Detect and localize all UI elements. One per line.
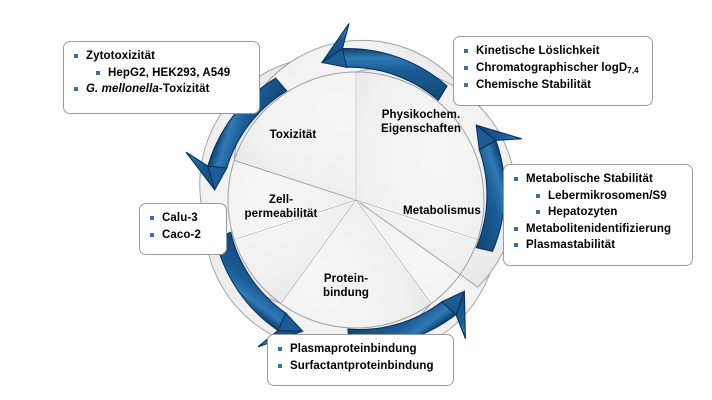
logd-subscript: 7,4 <box>627 66 638 75</box>
segment-label-zellpermeabilitaet: Zell- permeabilität <box>234 193 328 221</box>
list-item: Plasmastabilität <box>512 237 682 254</box>
list-item: Plasmaproteinbindung <box>276 341 443 358</box>
list-item: Chemische Stabilität <box>462 77 642 94</box>
diagram-canvas: Physikochem. Eigenschaften Metabolismus … <box>0 0 712 400</box>
list-item: Chromatographischer logD7,4 <box>462 60 642 78</box>
segment-label-proteinbindung: Protein- bindung <box>299 272 393 300</box>
list-item: G. mellonella-Toxizität <box>72 81 249 98</box>
list-item: HepG2, HEK293, A549 <box>72 65 249 82</box>
callout-metabolismus[interactable]: Metabolische Stabilität Lebermikrosomen/… <box>503 164 693 266</box>
callout-list-proteinbindung: Plasmaproteinbindung Surfactantproteinbi… <box>276 341 443 374</box>
list-item: Zytotoxizität <box>72 48 249 65</box>
list-item: Metabolitenidentifizierung <box>512 221 682 238</box>
segment-label-metabolismus: Metabolismus <box>388 204 496 218</box>
callout-physikochem[interactable]: Kinetische Löslichkeit Chromatographisch… <box>453 36 653 106</box>
callout-proteinbindung[interactable]: Plasmaproteinbindung Surfactantproteinbi… <box>267 334 454 386</box>
list-item: Caco-2 <box>148 227 216 244</box>
callout-list-physikochem: Kinetische Löslichkeit Chromatographisch… <box>462 43 642 94</box>
list-item: Kinetische Löslichkeit <box>462 43 642 60</box>
list-item: Hepatozyten <box>512 204 682 221</box>
list-item: Metabolische Stabilität <box>512 171 682 188</box>
callout-list-metabolismus: Metabolische Stabilität Lebermikrosomen/… <box>512 171 682 254</box>
callout-list-zellpermeabilitaet: Calu-3 Caco-2 <box>148 210 216 243</box>
segment-label-physikochem: Physikochem. Eigenschaften <box>362 108 480 136</box>
callout-zellpermeabilitaet[interactable]: Calu-3 Caco-2 <box>139 203 227 255</box>
callout-list-toxizitaet: Zytotoxizität HepG2, HEK293, A549 G. mel… <box>72 48 249 98</box>
list-item: Calu-3 <box>148 210 216 227</box>
segment-label-toxizitaet: Toxizität <box>246 128 340 142</box>
callout-toxizitaet[interactable]: Zytotoxizität HepG2, HEK293, A549 G. mel… <box>63 41 260 114</box>
list-item: Lebermikrosomen/S9 <box>512 188 682 205</box>
list-item: Surfactantproteinbindung <box>276 358 443 375</box>
